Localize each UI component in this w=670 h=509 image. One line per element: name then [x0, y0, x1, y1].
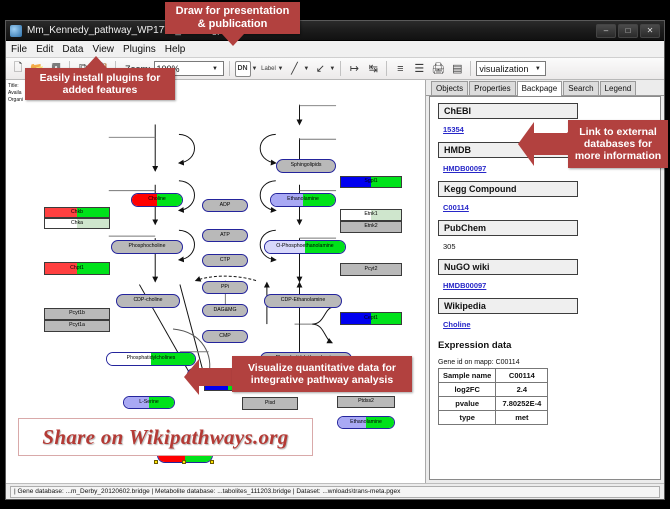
- database-value: 305: [443, 242, 456, 251]
- close-icon[interactable]: ✕: [640, 24, 660, 38]
- gene-node-etnk2[interactable]: Etnk2: [340, 221, 402, 233]
- new-file-icon[interactable]: 🗋: [10, 61, 26, 77]
- gene-node-cept1[interactable]: Cept1: [340, 312, 402, 325]
- node-label: CDP-choline: [133, 298, 162, 303]
- datanode-icon[interactable]: DN: [235, 61, 251, 77]
- metabolite-node-o_phosphoethanolamine[interactable]: O-Phosphoethanolamine: [264, 240, 346, 254]
- node-label: Phosphatidylcholines: [127, 356, 176, 361]
- node-label: Pcyt2: [365, 267, 378, 272]
- node-label: DAG&MG: [213, 308, 236, 313]
- maximize-icon[interactable]: □: [618, 24, 638, 38]
- minimize-icon[interactable]: –: [596, 24, 616, 38]
- menu-item-file[interactable]: File: [11, 44, 27, 55]
- callout-plugins-text: Easily install plugins for added feature…: [25, 70, 175, 98]
- node-label: Phosphocholine: [129, 244, 166, 249]
- gene-node-pcyt1a[interactable]: Pcyt1a: [44, 320, 110, 332]
- database-block-wikipedia: WikipediaCholine: [438, 298, 660, 332]
- callout-arrow-icon: [222, 34, 244, 46]
- line-icon[interactable]: ╱: [286, 61, 302, 77]
- expression-key: pvalue: [439, 397, 496, 411]
- visualization-combobox[interactable]: visualization ▼: [476, 61, 546, 76]
- callout-draw-text: Draw for presentation & publication: [165, 3, 300, 32]
- database-name: PubChem: [438, 220, 578, 236]
- chevron-down-icon: ▼: [303, 66, 309, 72]
- toolbar-separator: [229, 61, 230, 76]
- metabolite-node-cmp[interactable]: CMP: [202, 330, 248, 343]
- gene-node-sgpl1[interactable]: Sgpl1: [340, 176, 402, 188]
- node-label: Cept1: [364, 316, 378, 321]
- node-label: L-Serine: [139, 400, 159, 405]
- chevron-down-icon: ▼: [329, 66, 335, 72]
- label-icon[interactable]: Label: [260, 61, 276, 77]
- expression-value: 7.80252E-4: [496, 397, 548, 411]
- metabolite-node-sphingolipids[interactable]: Sphingolipids: [276, 159, 336, 173]
- table-row: pvalue7.80252E-4: [439, 397, 548, 411]
- metabolite-node-atp[interactable]: ATP: [202, 229, 248, 242]
- window-title: Mm_Kennedy_pathway_WP1771_45176.gpml: [27, 25, 591, 36]
- expression-value: C00114: [496, 369, 548, 383]
- metabolite-node-dagmg[interactable]: DAG&MG: [202, 304, 248, 317]
- database-name: NuGO wiki: [438, 259, 578, 275]
- pathway-title-label: Title:: [8, 83, 19, 90]
- chevron-down-icon: ▼: [532, 62, 543, 75]
- toolbar-separator: [386, 61, 387, 76]
- database-link[interactable]: C00114: [443, 203, 469, 212]
- node-label: Ethanolamine: [287, 197, 319, 202]
- callout-visualize-text: Visualize quantitative data for integrat…: [232, 360, 412, 388]
- node-label: ADP: [220, 203, 231, 208]
- database-name: ChEBI: [438, 103, 578, 119]
- node-label: CMP: [219, 334, 231, 339]
- database-name: Kegg Compound: [438, 181, 578, 197]
- node-label: Ethanolamine: [350, 420, 382, 425]
- node-label: Chpt1: [70, 266, 84, 271]
- node-label: Etnk2: [364, 224, 377, 229]
- callout-draw: Draw for presentation & publication: [165, 2, 300, 34]
- interaction-tool[interactable]: ↙ ▼: [312, 61, 335, 77]
- expression-value: 2.4: [496, 383, 548, 397]
- database-block-nugo-wiki: NuGO wikiHMDB00097: [438, 259, 660, 293]
- gene-node-chka[interactable]: Chka: [44, 218, 110, 229]
- layer-icon[interactable]: ▤: [449, 61, 465, 77]
- callout-visualize: Visualize quantitative data for integrat…: [232, 356, 412, 392]
- pathway-organism-label: Organi: [8, 97, 23, 104]
- metabolite-node-phosphatidylcholines[interactable]: Phosphatidylcholines: [106, 352, 196, 366]
- label-tool[interactable]: Label ▼: [260, 61, 283, 77]
- pathvisio-icon: [10, 25, 22, 37]
- node-label: CTP: [220, 258, 230, 263]
- metabolite-node-phosphocholine[interactable]: Phosphocholine: [111, 240, 183, 254]
- expression-value: met: [496, 411, 548, 425]
- database-block-pubchem: PubChem305: [438, 220, 660, 254]
- selection-handle[interactable]: [182, 460, 186, 464]
- stack-icon[interactable]: ≡: [392, 61, 408, 77]
- menu-item-view[interactable]: View: [92, 44, 114, 55]
- node-label: O-Phosphoethanolamine: [276, 244, 333, 249]
- node-label: Pcyt1a: [69, 323, 85, 328]
- selection-handle[interactable]: [210, 460, 214, 464]
- table-row: typemet: [439, 411, 548, 425]
- node-label: Choline: [148, 197, 166, 202]
- menu-item-data[interactable]: Data: [62, 44, 83, 55]
- metabolite-node-ethanolamine_bottom[interactable]: Ethanolamine: [337, 416, 395, 429]
- node-label: PPi: [221, 285, 229, 290]
- database-block-kegg-compound: Kegg CompoundC00114: [438, 181, 660, 215]
- metabolite-node-ppi[interactable]: PPi: [202, 281, 248, 294]
- node-label: Chka: [71, 221, 83, 226]
- metabolite-node-choline_top[interactable]: Choline: [131, 193, 183, 207]
- toolbar-separator: [340, 61, 341, 76]
- chevron-down-icon: ▼: [277, 66, 283, 72]
- toolbar-separator: [470, 61, 471, 76]
- callout-share-text: Share on Wikipathways.org: [42, 425, 288, 450]
- callout-links: Link to external databases for more info…: [568, 120, 668, 168]
- visualization-value: visualization: [479, 64, 532, 74]
- gene-node-pcyt2[interactable]: Pcyt2: [340, 263, 402, 276]
- callout-links-arrowhead: [518, 122, 534, 166]
- line-tool[interactable]: ╱ ▼: [286, 61, 309, 77]
- interaction-icon[interactable]: ↙: [312, 61, 328, 77]
- database-link[interactable]: Choline: [443, 320, 471, 329]
- metabolite-node-ctp[interactable]: CTP: [202, 254, 248, 267]
- gene-node-pcyt1b[interactable]: Pcyt1b: [44, 308, 110, 320]
- metabolite-node-l_serine_left[interactable]: L-Serine: [123, 396, 175, 409]
- expression-key: Sample name: [439, 369, 496, 383]
- tab-objects[interactable]: Objects: [431, 81, 468, 95]
- expression-key: log2FC: [439, 383, 496, 397]
- node-label: Sphingolipids: [291, 163, 322, 168]
- node-label: Ptdss2: [358, 399, 374, 404]
- callout-plugins: Easily install plugins for added feature…: [25, 68, 175, 100]
- title-bar: Mm_Kennedy_pathway_WP1771_45176.gpml – □…: [6, 21, 664, 41]
- align-icon[interactable]: ↦: [346, 61, 362, 77]
- tab-search[interactable]: Search: [563, 81, 598, 95]
- gene-id-line: Gene id on mapp: C00114: [438, 359, 660, 366]
- gene-node-etnk1[interactable]: Etnk1: [340, 209, 402, 221]
- callout-links-text: Link to external databases for more info…: [568, 124, 668, 164]
- status-bar: | Gene database: ...m_Derby_20120602.bri…: [6, 483, 664, 499]
- database-link[interactable]: HMDB00097: [443, 281, 486, 290]
- metabolite-node-cdp_choline[interactable]: CDP-choline: [116, 294, 180, 308]
- expression-key: type: [439, 411, 496, 425]
- order-icon[interactable]: 🖨: [430, 61, 446, 77]
- callout-share: Share on Wikipathways.org: [18, 418, 313, 456]
- database-link[interactable]: HMDB00097: [443, 164, 486, 173]
- gene-node-chpt1[interactable]: Chpt1: [44, 262, 110, 275]
- status-bar-text: | Gene database: ...m_Derby_20120602.bri…: [10, 486, 660, 498]
- node-label: Pcyt1b: [69, 311, 85, 316]
- menu-item-plugins[interactable]: Plugins: [123, 44, 156, 55]
- tab-legend[interactable]: Legend: [600, 81, 637, 95]
- database-link[interactable]: 15354: [443, 125, 464, 134]
- callout-arrow-icon: [555, 132, 568, 154]
- gene-node-chkb[interactable]: Chkb: [44, 207, 110, 218]
- database-name: Wikipedia: [438, 298, 578, 314]
- datanode-tool[interactable]: DN ▼: [235, 61, 258, 77]
- chevron-down-icon: ▼: [252, 66, 258, 72]
- window-controls: – □ ✕: [596, 24, 660, 38]
- table-row: log2FC2.4: [439, 383, 548, 397]
- tab-backpage[interactable]: Backpage: [517, 81, 563, 96]
- table-row: Sample nameC00114: [439, 369, 548, 383]
- distribute-icon[interactable]: ↹: [365, 61, 381, 77]
- group-icon[interactable]: ☰: [411, 61, 427, 77]
- metabolite-node-adp[interactable]: ADP: [202, 199, 248, 212]
- node-label: Chkb: [71, 210, 83, 215]
- metabolite-node-ethanolamine_top[interactable]: Ethanolamine: [270, 193, 336, 207]
- metabolite-node-cdp_ethanolamine[interactable]: CDP-Ethanolamine: [264, 294, 342, 308]
- callout-viz-arrowhead: [184, 359, 199, 395]
- node-label: Sgpl1: [364, 179, 377, 184]
- expression-table: Sample nameC00114log2FC2.4pvalue7.80252E…: [438, 368, 548, 425]
- node-label: ATP: [220, 233, 230, 238]
- expression-data-heading: Expression data: [438, 340, 660, 351]
- gene-node-ptdss2[interactable]: Ptdss2: [337, 396, 395, 408]
- node-label: CDP-Ethanolamine: [281, 298, 325, 303]
- node-label: Pisd: [265, 401, 275, 406]
- selection-handle[interactable]: [154, 460, 158, 464]
- side-panel-tabs: Objects Properties Backpage Search Legen…: [426, 80, 664, 96]
- chevron-down-icon: ▼: [210, 62, 221, 75]
- callout-arrow-icon: [85, 56, 107, 68]
- menu-item-help[interactable]: Help: [165, 44, 186, 55]
- gene-node-pisd[interactable]: Pisd: [242, 397, 298, 410]
- menu-item-edit[interactable]: Edit: [36, 44, 53, 55]
- tab-properties[interactable]: Properties: [469, 81, 515, 95]
- pathway-available-label: Availa: [8, 90, 22, 97]
- node-label: Etnk1: [364, 212, 377, 217]
